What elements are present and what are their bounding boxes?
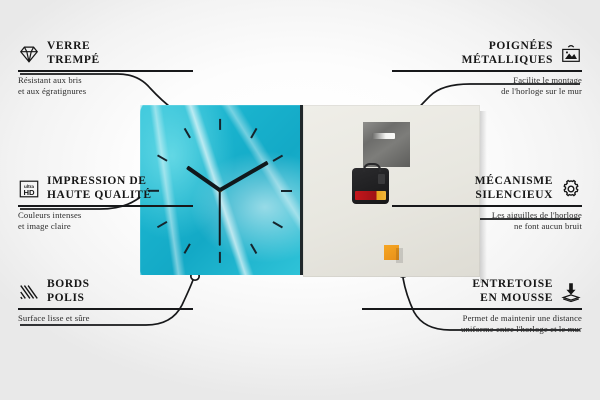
feature-title-line2: SILENCIEUX [475, 189, 553, 203]
clock-second-hand [219, 190, 221, 246]
clock-minute-hand [219, 161, 268, 192]
callout-impression-haute-qualite: ultra HD IMPRESSION DE HAUTE QUALITÉ Cou… [18, 175, 193, 232]
feature-title-line2: HAUTE QUALITÉ [47, 189, 152, 203]
feature-title-line1: MÉCANISME [475, 175, 553, 189]
divider-rule [18, 205, 193, 207]
picture-frame-icon [560, 43, 582, 65]
svg-text:HD: HD [23, 187, 35, 196]
clock-tick [281, 190, 292, 192]
gear-icon [560, 178, 582, 200]
mechanism-dial [378, 174, 385, 184]
mechanism-loop [363, 163, 381, 172]
callout-entretoise-en-mousse: ENTRETOISE EN MOUSSE Permet de maintenir… [362, 278, 582, 335]
feature-title-line2: EN MOUSSE [472, 292, 553, 306]
clock-mechanism [352, 168, 389, 204]
feature-desc-line1: Couleurs intenses [18, 210, 193, 221]
feature-title-line1: BORDS [47, 278, 90, 292]
feature-desc-line1: Facilite le montage [392, 75, 582, 86]
callout-bords-polis: BORDS POLIS Surface lisse et sûre [18, 278, 193, 324]
foam-spacer [384, 245, 399, 260]
feature-title-line1: POIGNÉES [462, 40, 553, 54]
callout-poignees-metalliques: POIGNÉES MÉTALLIQUES Facilite le montage… [392, 40, 582, 97]
callout-mecanisme-silencieux: MÉCANISME SILENCIEUX Les aiguilles de l'… [392, 175, 582, 232]
hanger-slot [372, 133, 395, 139]
feature-desc-line2: de l'horloge sur le mur [392, 86, 582, 97]
feature-desc-line2: et aux égratignures [18, 86, 193, 97]
divider-rule [362, 308, 582, 310]
feature-desc-line1: Permet de maintenir une distance [362, 313, 582, 324]
feature-desc-line1: Résistant aux bris [18, 75, 193, 86]
feature-title-line1: VERRE [47, 40, 100, 54]
feature-desc-line2: uniforme entre l'horloge et le mur [362, 324, 582, 335]
feature-title-line1: ENTRETOISE [472, 278, 553, 292]
diagonal-lines-icon [18, 281, 40, 303]
callout-verre-trempe: VERRE TREMPÉ Résistant aux bris et aux é… [18, 40, 193, 97]
ultra-hd-icon: ultra HD [18, 178, 40, 200]
divider-rule [18, 308, 193, 310]
infographic-canvas: VERRE TREMPÉ Résistant aux bris et aux é… [0, 0, 600, 400]
feature-desc-line2: et image claire [18, 221, 193, 232]
feature-title-line1: IMPRESSION DE [47, 175, 152, 189]
down-arrow-stack-icon [560, 281, 582, 303]
feature-title-line2: TREMPÉ [47, 54, 100, 68]
clock-tick [219, 252, 221, 263]
divider-rule [392, 205, 582, 207]
clock-tick [219, 119, 221, 130]
feature-desc-line1: Les aiguilles de l'horloge [392, 210, 582, 221]
divider-rule [18, 70, 193, 72]
feature-desc-line1: Surface lisse et sûre [18, 313, 193, 324]
feature-desc-line2: ne font aucun bruit [392, 221, 582, 232]
feature-title-line2: MÉTALLIQUES [462, 54, 553, 68]
battery [355, 191, 386, 200]
metal-hanger-plate [363, 122, 410, 167]
feature-title-line2: POLIS [47, 292, 90, 306]
divider-rule [392, 70, 582, 72]
diamond-icon [18, 43, 40, 65]
